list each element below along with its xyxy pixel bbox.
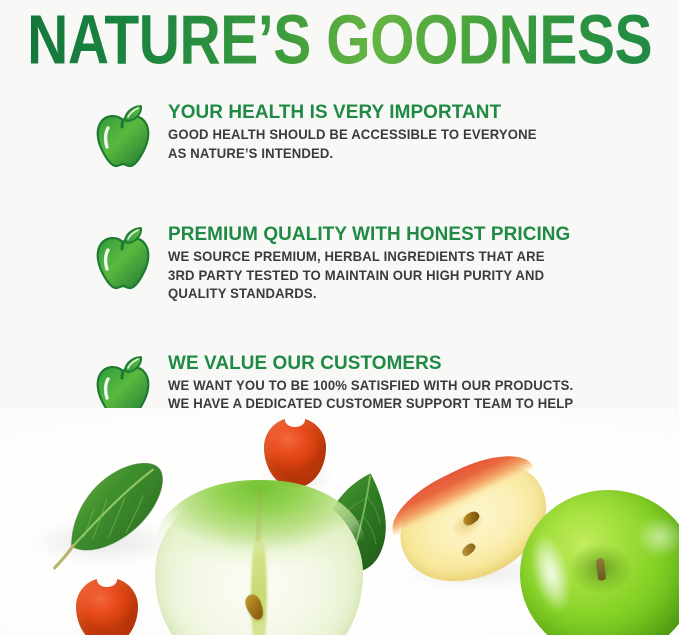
green-apple-half	[155, 482, 363, 635]
feature-body-line: QUALITY STANDARDS.	[168, 285, 568, 303]
feature-item-health: YOUR HEALTH IS VERY IMPORTANT GOOD HEALT…	[92, 96, 679, 172]
page-title: NATURE’S GOODNESS	[27, 6, 652, 75]
feature-list: YOUR HEALTH IS VERY IMPORTANT GOOD HEALT…	[0, 96, 679, 431]
fruit-photo	[0, 408, 679, 635]
feature-body-line: WE SOURCE PREMIUM, HERBAL INGREDIENTS TH…	[168, 248, 568, 266]
feature-heading: PREMIUM QUALITY WITH HONEST PRICING	[168, 224, 570, 244]
green-apple-whole	[520, 490, 679, 635]
apple-highlight	[636, 517, 679, 557]
feature-body-line: WE WANT YOU TO BE 100% SATISFIED WITH OU…	[168, 377, 573, 395]
feature-item-quality: PREMIUM QUALITY WITH HONEST PRICING WE S…	[92, 218, 679, 303]
feature-text: YOUR HEALTH IS VERY IMPORTANT GOOD HEALT…	[168, 96, 550, 163]
feature-body-line: GOOD HEALTH SHOULD BE ACCESSIBLE TO EVER…	[168, 126, 537, 144]
dried-apple-notch	[97, 573, 117, 587]
feature-heading: YOUR HEALTH IS VERY IMPORTANT	[168, 102, 539, 122]
feature-body-line: AS NATURE’S INTENDED.	[168, 145, 537, 163]
apple-icon	[92, 102, 154, 172]
feature-heading: WE VALUE OUR CUSTOMERS	[168, 353, 575, 373]
feature-body: GOOD HEALTH SHOULD BE ACCESSIBLE TO EVER…	[168, 126, 537, 162]
title-banner: NATURE’S GOODNESS	[0, 0, 679, 82]
dried-apple-red-left	[76, 578, 138, 635]
dried-apple-notch	[285, 413, 305, 427]
promo-banner: NATURE’S GOODNESS	[0, 0, 679, 635]
apple-icon	[92, 224, 154, 294]
feature-body: WE SOURCE PREMIUM, HERBAL INGREDIENTS TH…	[168, 248, 568, 302]
feature-body-line: 3RD PARTY TESTED TO MAINTAIN OUR HIGH PU…	[168, 267, 568, 285]
feature-text: PREMIUM QUALITY WITH HONEST PRICING WE S…	[168, 218, 583, 303]
dried-apple-dimple	[94, 630, 116, 635]
